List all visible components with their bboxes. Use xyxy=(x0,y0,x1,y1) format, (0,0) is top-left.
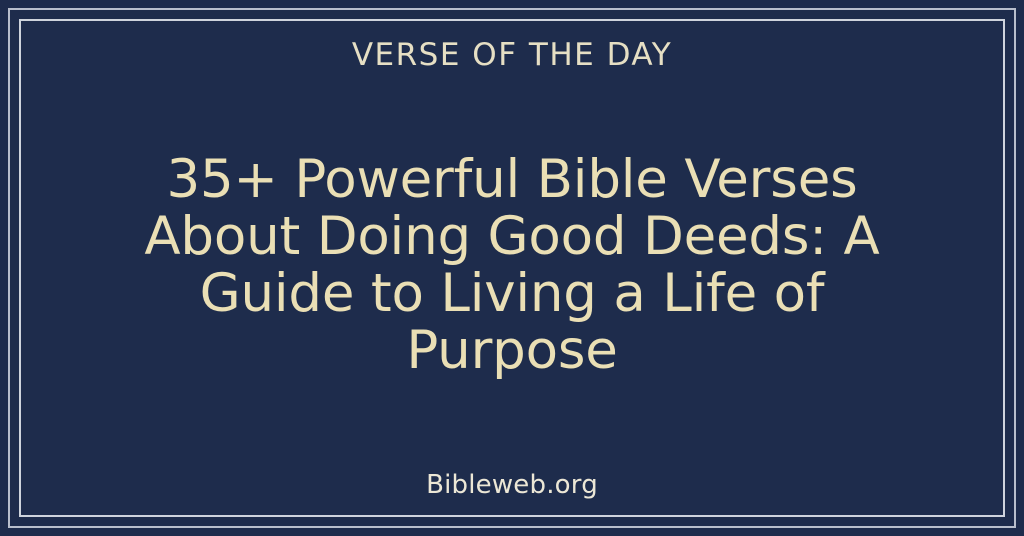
card-content: VERSE OF THE DAY 35+ Powerful Bible Vers… xyxy=(22,22,1002,514)
site-attribution: Bibleweb.org xyxy=(426,470,598,500)
verse-of-the-day-card: VERSE OF THE DAY 35+ Powerful Bible Vers… xyxy=(0,0,1024,536)
headline-container: 35+ Powerful Bible Verses About Doing Go… xyxy=(22,72,1002,470)
kicker-label: VERSE OF THE DAY xyxy=(352,38,672,72)
page-title: 35+ Powerful Bible Verses About Doing Go… xyxy=(97,151,927,380)
